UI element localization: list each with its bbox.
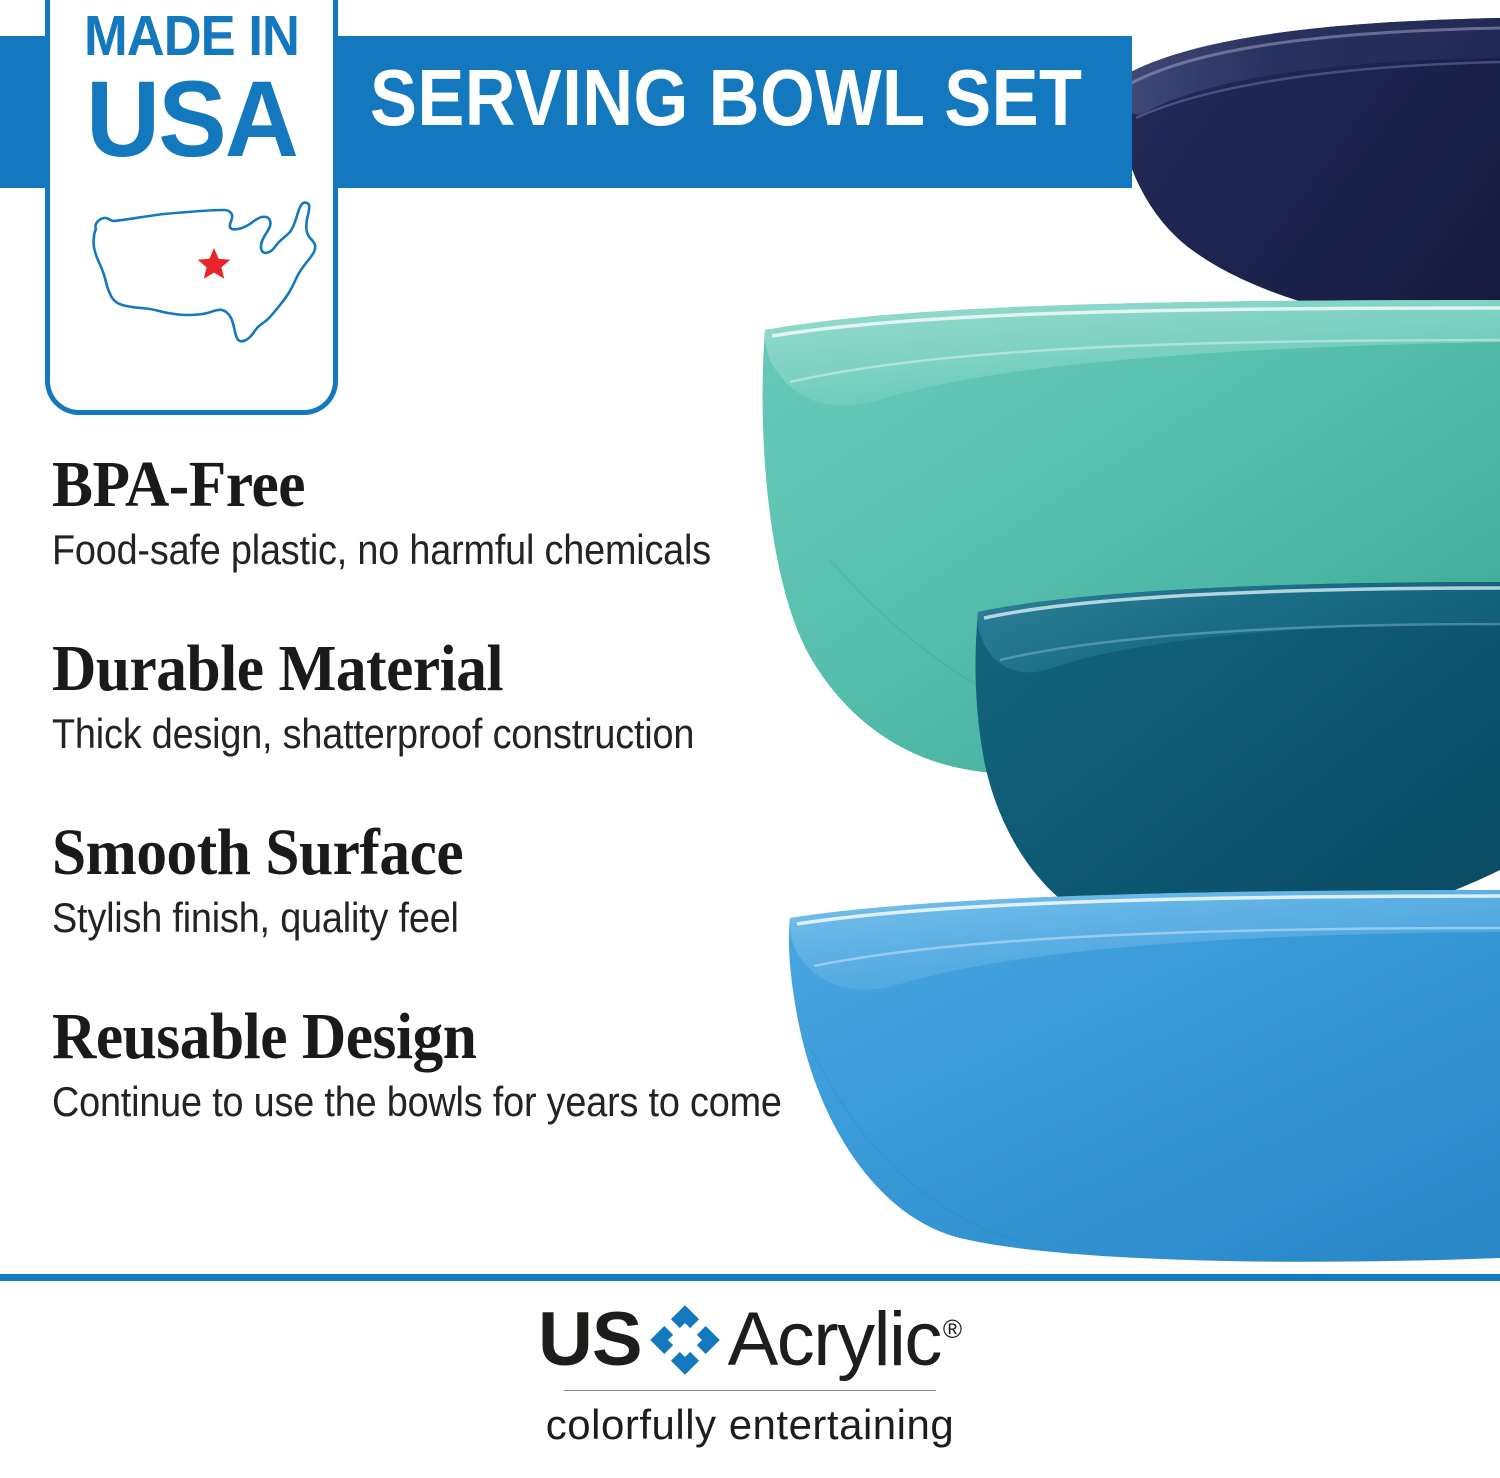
feature-title: Smooth Surface (52, 816, 833, 890)
feature-description: Thick design, shatterproof construction (52, 708, 808, 760)
usa-map-outline-icon (68, 185, 324, 355)
logo-acrylic-text: Acrylic (728, 1300, 941, 1380)
feature-description: Continue to use the bowls for years to c… (52, 1076, 808, 1128)
feature-list: BPA-Free Food-safe plastic, no harmful c… (52, 448, 892, 1128)
made-in-usa-badge: MADE IN USA (45, 0, 338, 415)
badge-made-in-label: MADE IN (61, 8, 321, 65)
brand-tagline: colorfully entertaining (0, 1397, 1500, 1453)
feature-title: Reusable Design (52, 1000, 833, 1074)
navy-bowl (1119, 18, 1500, 330)
logo-us-text: US (538, 1300, 642, 1380)
feature-item: Durable Material Thick design, shatterpr… (52, 632, 892, 760)
feature-description: Food-safe plastic, no harmful chemicals (52, 524, 808, 576)
feature-title: Durable Material (52, 632, 833, 706)
feature-description: Stylish finish, quality feel (52, 892, 808, 944)
feature-item: Smooth Surface Stylish finish, quality f… (52, 816, 892, 944)
red-star-marker-icon (198, 248, 231, 279)
logo-acrylic-wrap: Acrylic ® (728, 1300, 962, 1380)
blue-diamond-logo-icon (648, 1303, 722, 1377)
feature-item: BPA-Free Food-safe plastic, no harmful c… (52, 448, 892, 576)
badge-usa-label: USA (57, 65, 326, 173)
us-acrylic-logo: US Acrylic ® (538, 1300, 962, 1380)
blue-bowl (789, 890, 1500, 1262)
page-title: SERVING BOWL SET (370, 50, 1082, 146)
registered-trademark-symbol: ® (943, 1314, 962, 1344)
teal-bowl (976, 582, 1500, 942)
footer-divider-rule (0, 1274, 1500, 1281)
logo-underline-divider (564, 1390, 936, 1391)
product-infographic: SERVING BOWL SET MADE IN USA BPA-Free Fo… (0, 0, 1500, 1478)
brand-footer: US Acrylic ® colorfully entertaining (0, 1300, 1500, 1453)
feature-item: Reusable Design Continue to use the bowl… (52, 1000, 892, 1128)
feature-title: BPA-Free (52, 448, 833, 522)
